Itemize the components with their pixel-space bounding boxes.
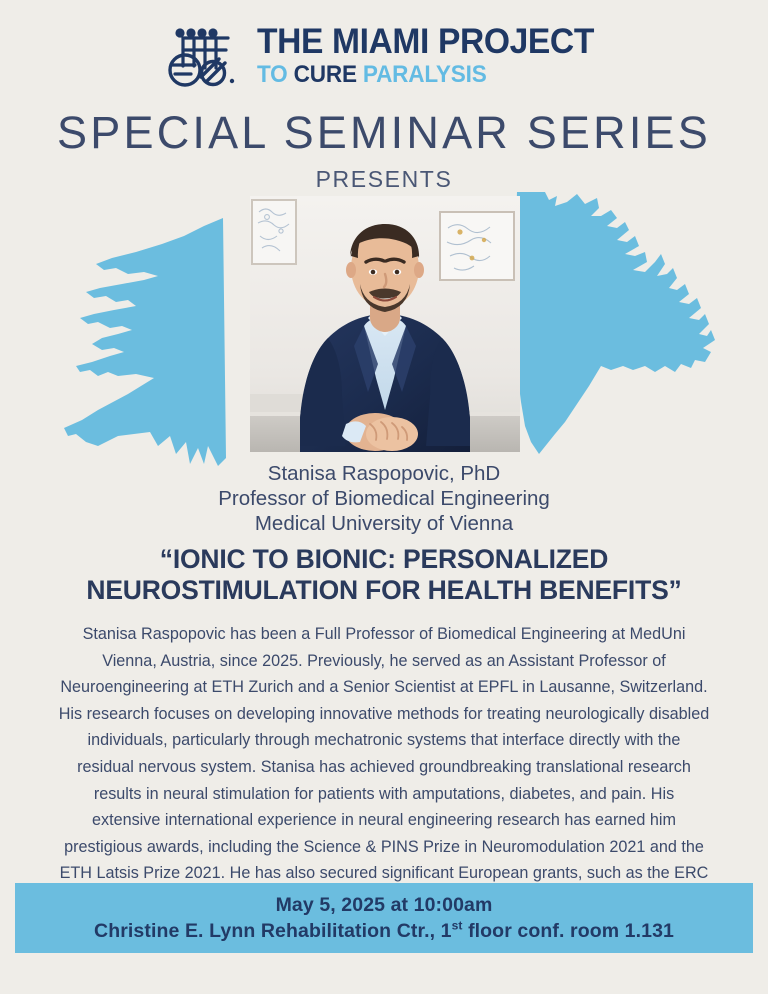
talk-title: “IONIC TO BIONIC: PERSONALIZED NEUROSTIM…	[34, 544, 734, 606]
speaker-biography: Stanisa Raspopovic has been a Full Profe…	[58, 621, 710, 914]
speaker-institution: Medical University of Vienna	[0, 511, 768, 536]
event-details-banner: May 5, 2025 at 10:00am Christine E. Lynn…	[15, 883, 753, 953]
logo-word-to: TO	[257, 61, 288, 88]
brush-stroke-left-decoration	[58, 196, 273, 486]
speaker-photo	[250, 196, 520, 452]
presents-label: PRESENTS	[0, 166, 768, 193]
event-location: Christine E. Lynn Rehabilitation Ctr., 1…	[94, 920, 674, 943]
organization-logo: THE MIAMI PROJECT TO CURE PARALYSIS	[0, 24, 768, 87]
speaker-info: Stanisa Raspopovic, PhD Professor of Bio…	[0, 461, 768, 536]
seminar-flyer: THE MIAMI PROJECT TO CURE PARALYSIS SPEC…	[0, 0, 768, 994]
speaker-role: Professor of Biomedical Engineering	[0, 486, 768, 511]
event-location-before: Christine E. Lynn Rehabilitation Ctr., 1	[94, 920, 452, 942]
wheelchair-racers-icon	[161, 25, 247, 87]
event-location-after: floor conf. room 1.131	[463, 920, 674, 942]
logo-word-paralysis: PARALYSIS	[362, 61, 486, 88]
logo-line-1: THE MIAMI PROJECT	[257, 24, 594, 59]
event-datetime: May 5, 2025 at 10:00am	[276, 894, 493, 917]
speaker-name: Stanisa Raspopovic, PhD	[0, 461, 768, 486]
event-location-ordinal: st	[452, 918, 463, 932]
logo-line-2: TO CURE PARALYSIS	[257, 63, 587, 87]
page-title: SPECIAL SEMINAR SERIES	[0, 107, 768, 159]
logo-word-cure: CURE	[293, 61, 356, 88]
brush-stroke-right-decoration	[505, 190, 730, 480]
